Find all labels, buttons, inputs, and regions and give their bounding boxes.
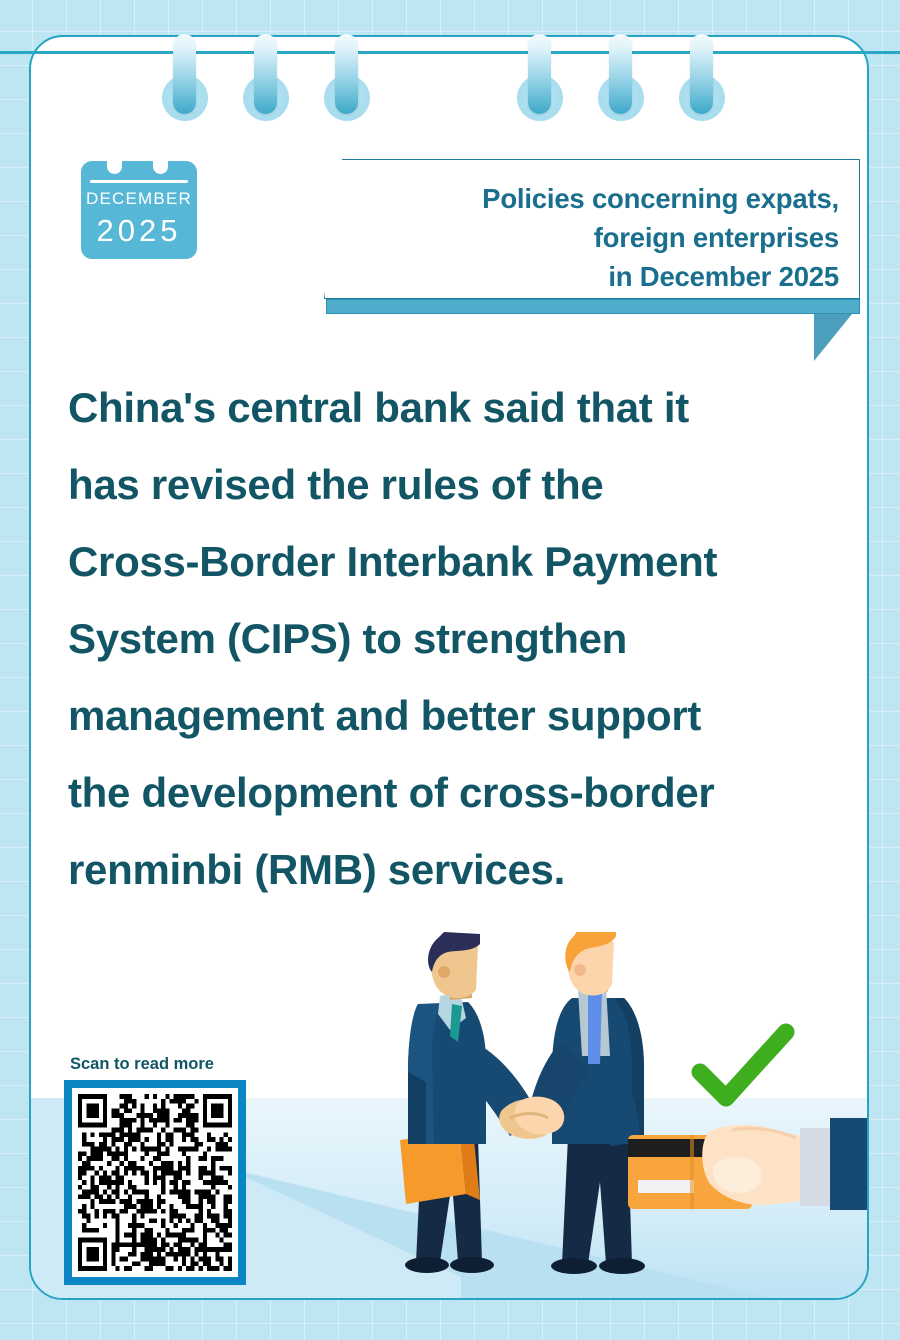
right-man-shoe-back	[551, 1258, 597, 1274]
spiral-pin-2	[254, 34, 277, 114]
title-banner-tail	[814, 314, 852, 361]
calendar-month-label: DECEMBER	[81, 189, 197, 209]
delivery-cuff	[800, 1128, 834, 1206]
qr-code[interactable]	[64, 1080, 246, 1285]
body-line-3: Cross-Border Interbank Payment	[68, 523, 858, 600]
right-man-shoe-front	[599, 1258, 645, 1274]
spiral-bar	[0, 51, 900, 54]
left-man-arm-back	[408, 1072, 426, 1144]
notepad-card: DECEMBER 2025 Policies concerning expats…	[29, 35, 869, 1300]
calendar-year-label: 2025	[81, 213, 197, 249]
poster-page: DECEMBER 2025 Policies concerning expats…	[0, 0, 900, 1340]
qr-code-image	[78, 1094, 232, 1271]
body-line-6: the development of cross-border	[68, 754, 858, 831]
title-line-2: foreign enterprises	[359, 218, 839, 257]
parcel-white-label	[638, 1180, 694, 1193]
handshake-delivery-illustration	[382, 932, 869, 1300]
body-line-5: management and better support	[68, 677, 858, 754]
body-line-1: China's central bank said that it	[68, 369, 858, 446]
spiral-pin-6	[690, 34, 713, 114]
right-man-ear	[574, 964, 586, 976]
right-man-legs	[562, 1137, 632, 1264]
spiral-pin-5	[609, 34, 632, 114]
body-line-2: has revised the rules of the	[68, 446, 858, 523]
title-line-1: Policies concerning expats,	[359, 179, 839, 218]
left-man-ear	[438, 966, 450, 978]
calendar-icon: DECEMBER 2025	[81, 161, 197, 259]
spiral-pin-3	[335, 34, 358, 114]
left-man-shoe-back	[405, 1257, 449, 1273]
right-man-tie	[588, 990, 602, 1064]
delivery-sleeve	[830, 1118, 869, 1210]
calendar-notch-right	[153, 161, 168, 174]
scan-to-read-more-label: Scan to read more	[70, 1055, 214, 1074]
calendar-notch-left	[107, 161, 122, 174]
spiral-pin-4	[528, 34, 551, 114]
body-line-4: System (CIPS) to strengthen	[68, 600, 858, 677]
page-title: Policies concerning expats, foreign ente…	[359, 179, 839, 296]
parcel-seam	[690, 1135, 694, 1209]
title-banner: Policies concerning expats, foreign ente…	[324, 159, 860, 349]
left-man-shoe-front	[450, 1257, 494, 1273]
title-line-3: in December 2025	[359, 257, 839, 296]
body-paragraph: China's central bank said that it has re…	[68, 369, 858, 908]
spiral-pin-1	[173, 34, 196, 114]
green-check-icon	[700, 1032, 786, 1098]
calendar-divider-line	[90, 180, 188, 183]
title-banner-box: Policies concerning expats, foreign ente…	[324, 159, 860, 299]
body-line-7: renminbi (RMB) services.	[68, 831, 858, 908]
title-banner-bottom-bar	[326, 299, 860, 314]
